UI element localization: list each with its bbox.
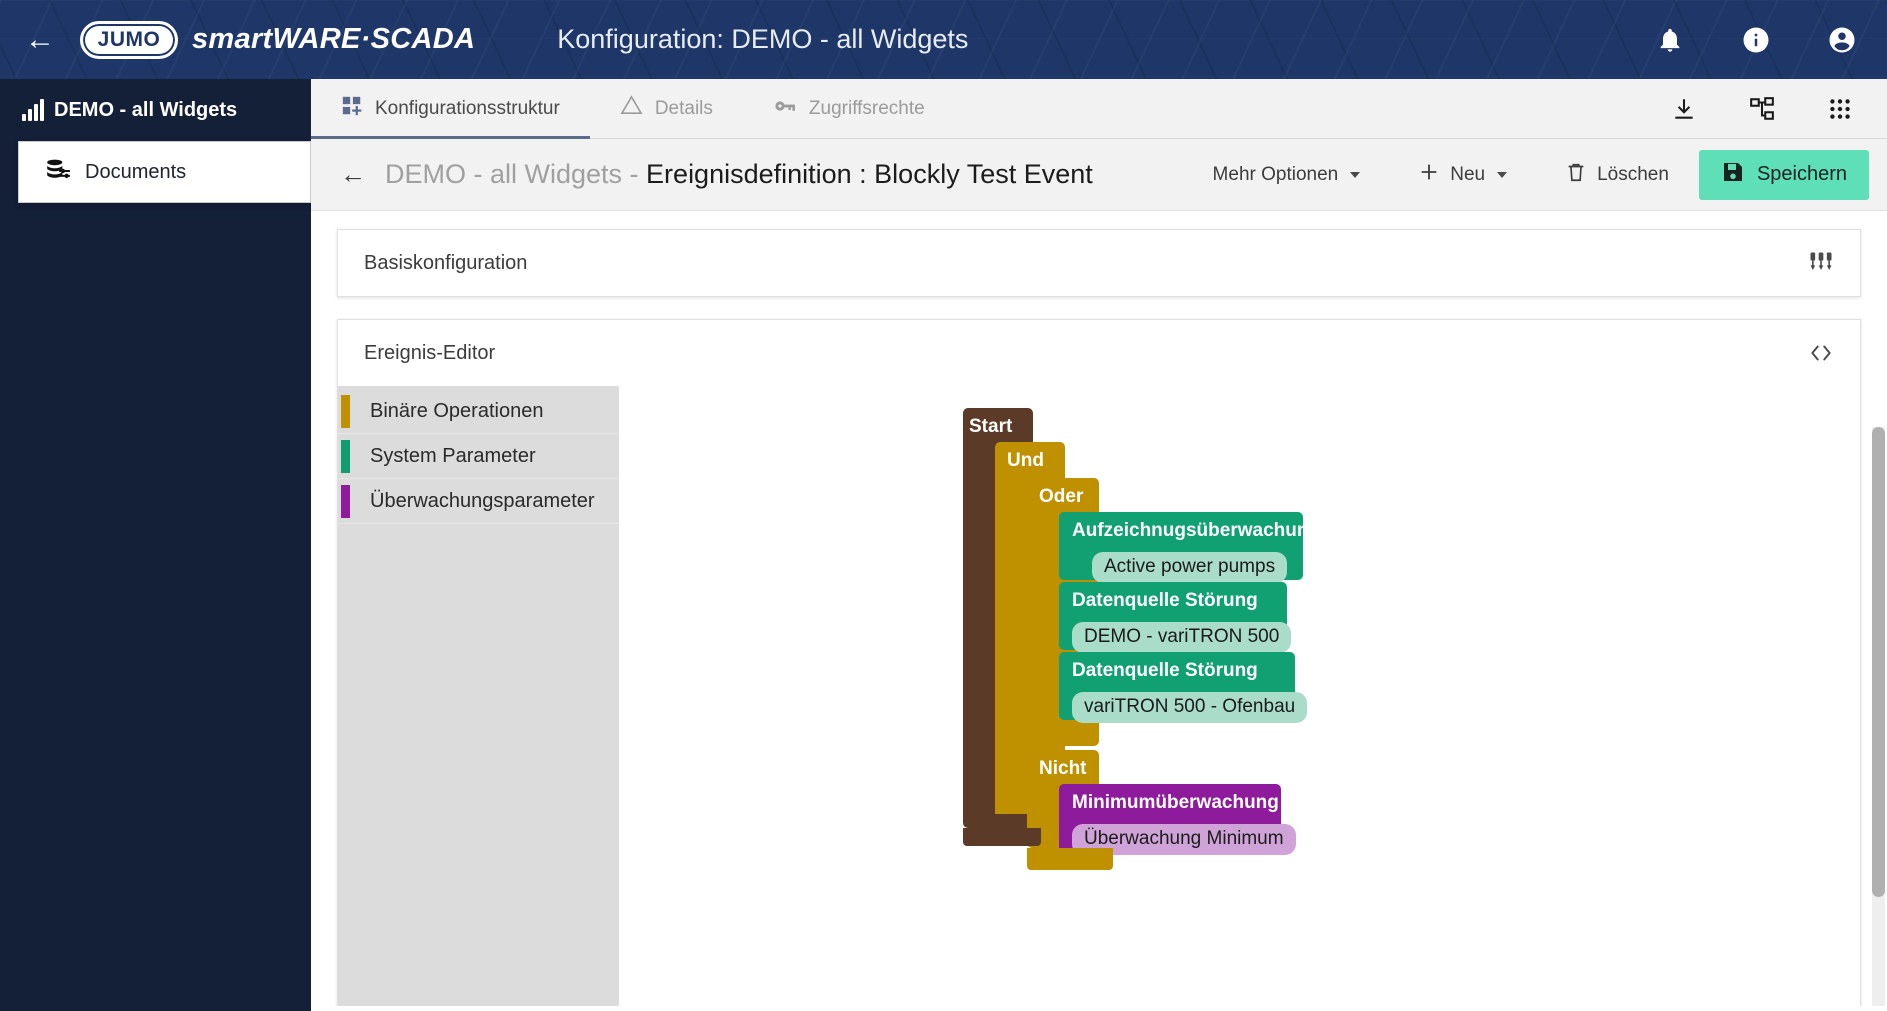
green-block-label: Aufzeichnugsüberwachung	[1072, 521, 1303, 540]
sidebar-header-label: DEMO - all Widgets	[54, 99, 237, 122]
category-color-swatch	[341, 485, 350, 518]
ereignis-editor-title: Ereignis-Editor	[364, 342, 495, 365]
save-label: Speichern	[1757, 163, 1847, 186]
purple-block-label: Minimumüberwachung	[1072, 793, 1281, 812]
content-scroll-area: Basiskonfiguration Ereignis-Editor	[311, 211, 1887, 1006]
green-block-label: Datenquelle Störung	[1072, 661, 1295, 680]
hierarchy-icon[interactable]	[1747, 94, 1777, 124]
tab-action-icons	[1669, 94, 1887, 124]
jumo-logo: JUMO	[80, 21, 178, 59]
category-color-swatch	[341, 395, 350, 428]
toolbox-category-system-parameter[interactable]: System Parameter	[338, 434, 619, 479]
block-minimumueberwachung[interactable]: Minimumüberwachung Überwachung Minimum	[1059, 784, 1281, 852]
product-name: smartWARE·SCADA	[192, 23, 475, 56]
grid-add-icon	[341, 95, 363, 123]
more-options-label: Mehr Optionen	[1213, 164, 1339, 186]
plus-icon	[1418, 161, 1440, 189]
toolbox-category-label: Binäre Operationen	[370, 400, 543, 423]
apps-grid-icon[interactable]	[1825, 94, 1855, 124]
notifications-icon[interactable]	[1653, 23, 1687, 57]
block-oder-label: Oder	[1039, 487, 1083, 506]
account-circle-icon[interactable]	[1825, 23, 1859, 57]
download-icon[interactable]	[1669, 94, 1699, 124]
breadcrumb-current: Ereignisdefinition : Blockly Test Event	[646, 159, 1093, 189]
tab-label: Details	[655, 98, 713, 120]
database-settings-icon	[45, 157, 71, 188]
blockly-canvas[interactable]: Start Und	[619, 386, 1860, 1006]
new-label: Neu	[1450, 164, 1485, 186]
ereignis-editor-card: Ereignis-Editor Binäre Operationen Syste…	[337, 319, 1861, 1006]
toolbox-category-ueberwachungsparameter[interactable]: Überwachungsparameter	[338, 479, 619, 524]
tab-label: Konfigurationsstruktur	[375, 98, 560, 120]
save-button[interactable]: Speichern	[1699, 150, 1869, 200]
page-toolbar: ← DEMO - all Widgets - Ereignisdefinitio…	[311, 139, 1887, 211]
block-nicht-footer	[1027, 848, 1113, 870]
header-back-icon[interactable]: ←	[12, 12, 68, 68]
green-block-field[interactable]: Active power pumps	[1092, 552, 1287, 583]
new-button[interactable]: Neu	[1402, 152, 1523, 198]
block-und-label: Und	[1007, 451, 1044, 470]
block-datenquelle-stoerung-2[interactable]: Datenquelle Störung variTRON 500 - Ofenb…	[1059, 652, 1295, 720]
basiskonfiguration-card: Basiskonfiguration	[337, 229, 1861, 297]
header-actions	[1653, 23, 1859, 57]
sidebar-item-label: Documents	[85, 161, 186, 184]
block-start-footer	[963, 828, 1041, 846]
sidebar-item-documents[interactable]: Documents	[18, 141, 311, 203]
basiskonfiguration-header: Basiskonfiguration	[338, 230, 1860, 296]
green-block-field[interactable]: DEMO - variTRON 500	[1072, 622, 1291, 653]
code-brackets-icon[interactable]	[1804, 336, 1838, 370]
tab-konfigurationsstruktur[interactable]: Konfigurationsstruktur	[311, 79, 590, 139]
tab-strip: Konfigurationsstruktur Details Zugriffsr…	[311, 79, 1887, 139]
key-icon	[773, 94, 797, 124]
breadcrumb: DEMO - all Widgets - Ereignisdefinition …	[385, 159, 1093, 190]
bar-chart-icon	[22, 99, 44, 121]
left-sidebar: DEMO - all Widgets Documents	[0, 79, 311, 1011]
block-datenquelle-stoerung-1[interactable]: Datenquelle Störung DEMO - variTRON 500	[1059, 582, 1287, 650]
breadcrumb-muted: DEMO - all Widgets -	[385, 159, 646, 189]
page-title: Konfiguration: DEMO - all Widgets	[557, 24, 968, 55]
green-block-field[interactable]: variTRON 500 - Ofenbau	[1072, 692, 1307, 723]
basiskonfiguration-title: Basiskonfiguration	[364, 252, 527, 275]
chevron-down-icon	[1350, 172, 1360, 178]
main-content: Konfigurationsstruktur Details Zugriffsr…	[311, 79, 1887, 1011]
tune-sliders-icon[interactable]	[1804, 246, 1838, 280]
scrollbar-thumb[interactable]	[1872, 427, 1885, 897]
info-icon[interactable]	[1739, 23, 1773, 57]
blockly-toolbox: Binäre Operationen System Parameter Über…	[338, 386, 619, 1006]
green-block-label: Datenquelle Störung	[1072, 591, 1287, 610]
delete-label: Löschen	[1597, 164, 1669, 186]
more-options-button[interactable]: Mehr Optionen	[1197, 152, 1377, 198]
toolbox-category-label: System Parameter	[370, 445, 536, 468]
vertical-scrollbar[interactable]	[1872, 427, 1885, 1006]
warning-triangle-icon	[620, 94, 643, 123]
tab-zugriffsrechte[interactable]: Zugriffsrechte	[743, 79, 955, 139]
save-disk-icon	[1721, 160, 1745, 190]
tab-label: Zugriffsrechte	[809, 98, 925, 120]
delete-button[interactable]: Löschen	[1549, 152, 1685, 198]
trash-icon	[1565, 161, 1587, 189]
ereignis-editor-header: Ereignis-Editor	[338, 320, 1860, 386]
toolbox-category-binaere-operationen[interactable]: Binäre Operationen	[338, 389, 619, 434]
sidebar-header[interactable]: DEMO - all Widgets	[0, 79, 311, 141]
page-back-icon[interactable]: ←	[333, 155, 373, 195]
blockly-editor: Binäre Operationen System Parameter Über…	[338, 386, 1860, 1006]
logo-text: JUMO	[98, 28, 161, 52]
app-header: ← JUMO smartWARE·SCADA Konfiguration: DE…	[0, 0, 1887, 79]
chevron-down-icon	[1497, 172, 1507, 178]
block-nicht-label: Nicht	[1039, 759, 1087, 778]
category-color-swatch	[341, 440, 350, 473]
toolbox-category-label: Überwachungsparameter	[370, 490, 595, 513]
block-aufzeichnungsueberwachung[interactable]: Aufzeichnugsüberwachung Active power pum…	[1059, 512, 1303, 580]
block-start-label: Start	[969, 417, 1012, 436]
tab-details[interactable]: Details	[590, 79, 743, 139]
